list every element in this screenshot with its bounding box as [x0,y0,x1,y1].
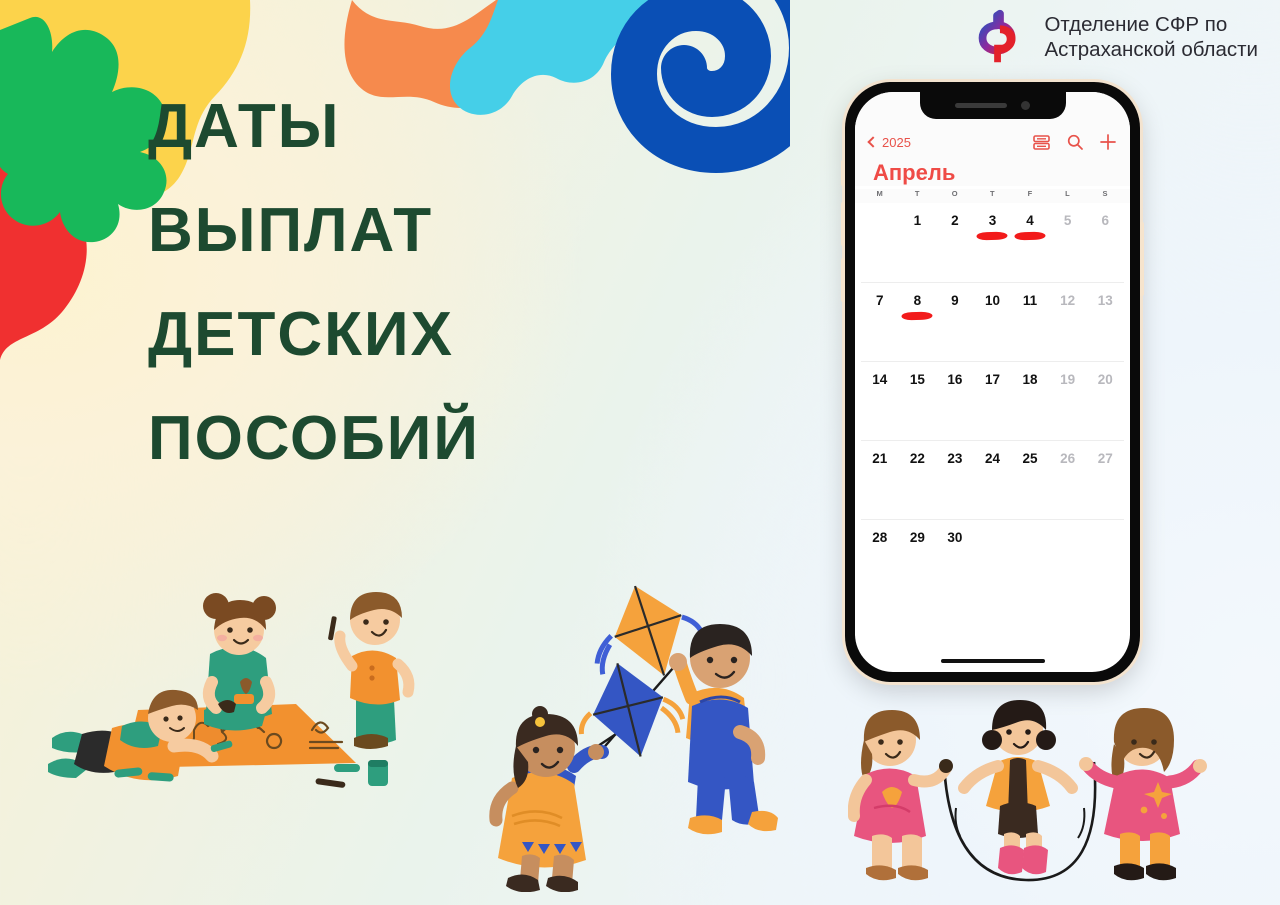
search-icon[interactable] [1067,134,1083,150]
calendar-day-number: 3 [989,213,997,228]
calendar-day[interactable]: 25 [1011,451,1049,519]
calendar-day[interactable]: 4 [1011,213,1049,282]
calendar-day-number: 18 [1023,372,1038,387]
volume-down-button[interactable] [841,258,845,302]
calendar-day-empty [1049,530,1087,598]
phone-mockup: 2025 Апрель M T O T F L S [845,82,1140,682]
calendar-day-empty [1086,530,1124,598]
calendar-day-number: 22 [910,451,925,466]
calendar-day[interactable]: 20 [1086,372,1124,440]
calendar-day[interactable]: 15 [899,372,937,440]
calendar-day[interactable]: 6 [1086,213,1124,282]
brand-title: Отделение СФР по Астраханской области [1044,12,1258,62]
calendar-day[interactable]: 18 [1011,372,1049,440]
calendar-day-number: 6 [1101,213,1109,228]
weekday-label: S [1086,189,1124,198]
calendar-week-row: 123456 [861,203,1124,282]
weekday-label: F [1011,189,1049,198]
calendar-toolbar: 2025 [869,134,1116,150]
orange-blob [344,0,606,108]
children-kites-illustration [478,566,798,892]
calendar-day[interactable]: 5 [1049,213,1087,282]
list-view-icon[interactable] [1033,135,1050,150]
calendar-day[interactable]: 2 [936,213,974,282]
calendar-day-number: 8 [914,293,922,308]
speaker-grille-icon [955,103,1007,108]
headline-line-4: ПОСОБИЙ [148,408,708,470]
calendar-day[interactable]: 1 [899,213,937,282]
calendar-day-number: 11 [1023,293,1037,308]
calendar-day-number: 27 [1098,451,1113,466]
calendar-day-number: 26 [1060,451,1075,466]
weekday-label: T [899,189,937,198]
volume-up-button[interactable] [841,202,845,246]
weekday-label: O [936,189,974,198]
calendar-day-number: 28 [872,530,887,545]
calendar-week-row: 14151617181920 [861,361,1124,440]
calendar-day[interactable]: 17 [974,372,1012,440]
calendar-day-number: 10 [985,293,1000,308]
calendar-day[interactable]: 30 [936,530,974,598]
calendar-day-number: 9 [951,293,959,308]
payment-date-highlight [902,312,933,321]
red-blob [0,57,87,360]
calendar-day-number: 16 [947,372,962,387]
calendar-day-number: 2 [951,213,959,228]
phone-screen: 2025 Апрель M T O T F L S [855,92,1130,672]
payment-date-highlight [1014,232,1045,241]
headline-line-2: ВЫПЛАТ [148,200,708,262]
calendar-day-number: 15 [910,372,925,387]
calendar-day-number: 20 [1098,372,1113,387]
calendar-day[interactable]: 14 [861,372,899,440]
month-title: Апрель [873,160,1116,186]
girls-jump-rope-illustration [848,688,1210,902]
calendar-day-number: 1 [914,213,922,228]
brand-block: Отделение СФР по Астраханской области [968,6,1258,68]
calendar-day[interactable]: 28 [861,530,899,598]
back-year-label: 2025 [882,135,911,150]
calendar-day[interactable]: 22 [899,451,937,519]
calendar-day-number: 14 [872,372,887,387]
calendar-day[interactable]: 13 [1086,293,1124,361]
calendar-day-number: 21 [872,451,887,466]
calendar-day-number: 30 [947,530,962,545]
calendar-day-number: 17 [985,372,1000,387]
weekday-label: L [1049,189,1087,198]
payment-date-highlight [977,232,1008,241]
calendar-day-empty [1011,530,1049,598]
calendar-day[interactable]: 26 [1049,451,1087,519]
page-title: ДАТЫ ВЫПЛАТ ДЕТСКИХ ПОСОБИЙ [148,96,708,470]
calendar-day-number: 5 [1064,213,1072,228]
chevron-left-icon [867,136,878,147]
calendar-day-number: 12 [1060,293,1075,308]
calendar-day[interactable]: 27 [1086,451,1124,519]
calendar-day[interactable]: 24 [974,451,1012,519]
phone-notch [920,92,1066,119]
sfr-logo-icon [968,6,1030,68]
calendar-day[interactable]: 3 [974,213,1012,282]
calendar-day-number: 19 [1060,372,1075,387]
headline-line-1: ДАТЫ [148,96,708,158]
calendar-day[interactable]: 7 [861,293,899,361]
green-leaf-blob [0,17,167,242]
calendar-day[interactable]: 16 [936,372,974,440]
back-to-year-button[interactable]: 2025 [869,135,911,150]
calendar-grid: 1234567891011121314151617181920212223242… [855,203,1130,598]
power-button[interactable] [1140,222,1144,296]
calendar-day-empty [861,213,899,282]
calendar-day-number: 25 [1023,451,1038,466]
calendar-week-row: 78910111213 [861,282,1124,361]
calendar-day-number: 13 [1098,293,1113,308]
calendar-day-number: 29 [910,530,925,545]
calendar-day[interactable]: 8 [899,293,937,361]
calendar-day[interactable]: 10 [974,293,1012,361]
calendar-day[interactable]: 23 [936,451,974,519]
calendar-day[interactable]: 19 [1049,372,1087,440]
calendar-day[interactable]: 12 [1049,293,1087,361]
headline-line-3: ДЕТСКИХ [148,304,708,366]
weekday-label: M [861,189,899,198]
front-camera-icon [1021,101,1030,110]
calendar-day[interactable]: 21 [861,451,899,519]
calendar-day-number: 23 [947,451,962,466]
calendar-week-row: 282930 [861,519,1124,598]
add-event-icon[interactable] [1100,134,1116,150]
calendar-day-number: 24 [985,451,1000,466]
calendar-day-number: 7 [876,293,884,308]
weekday-label: T [974,189,1012,198]
calendar-day[interactable]: 9 [936,293,974,361]
silent-switch-button[interactable] [841,160,845,186]
home-indicator[interactable] [941,659,1045,663]
weekday-header: M T O T F L S [855,189,1130,203]
calendar-week-row: 21222324252627 [861,440,1124,519]
calendar-day-empty [974,530,1012,598]
calendar-day-number: 4 [1026,213,1034,228]
calendar-day[interactable]: 29 [899,530,937,598]
calendar-day[interactable]: 11 [1011,293,1049,361]
children-drawing-illustration [34,578,434,810]
